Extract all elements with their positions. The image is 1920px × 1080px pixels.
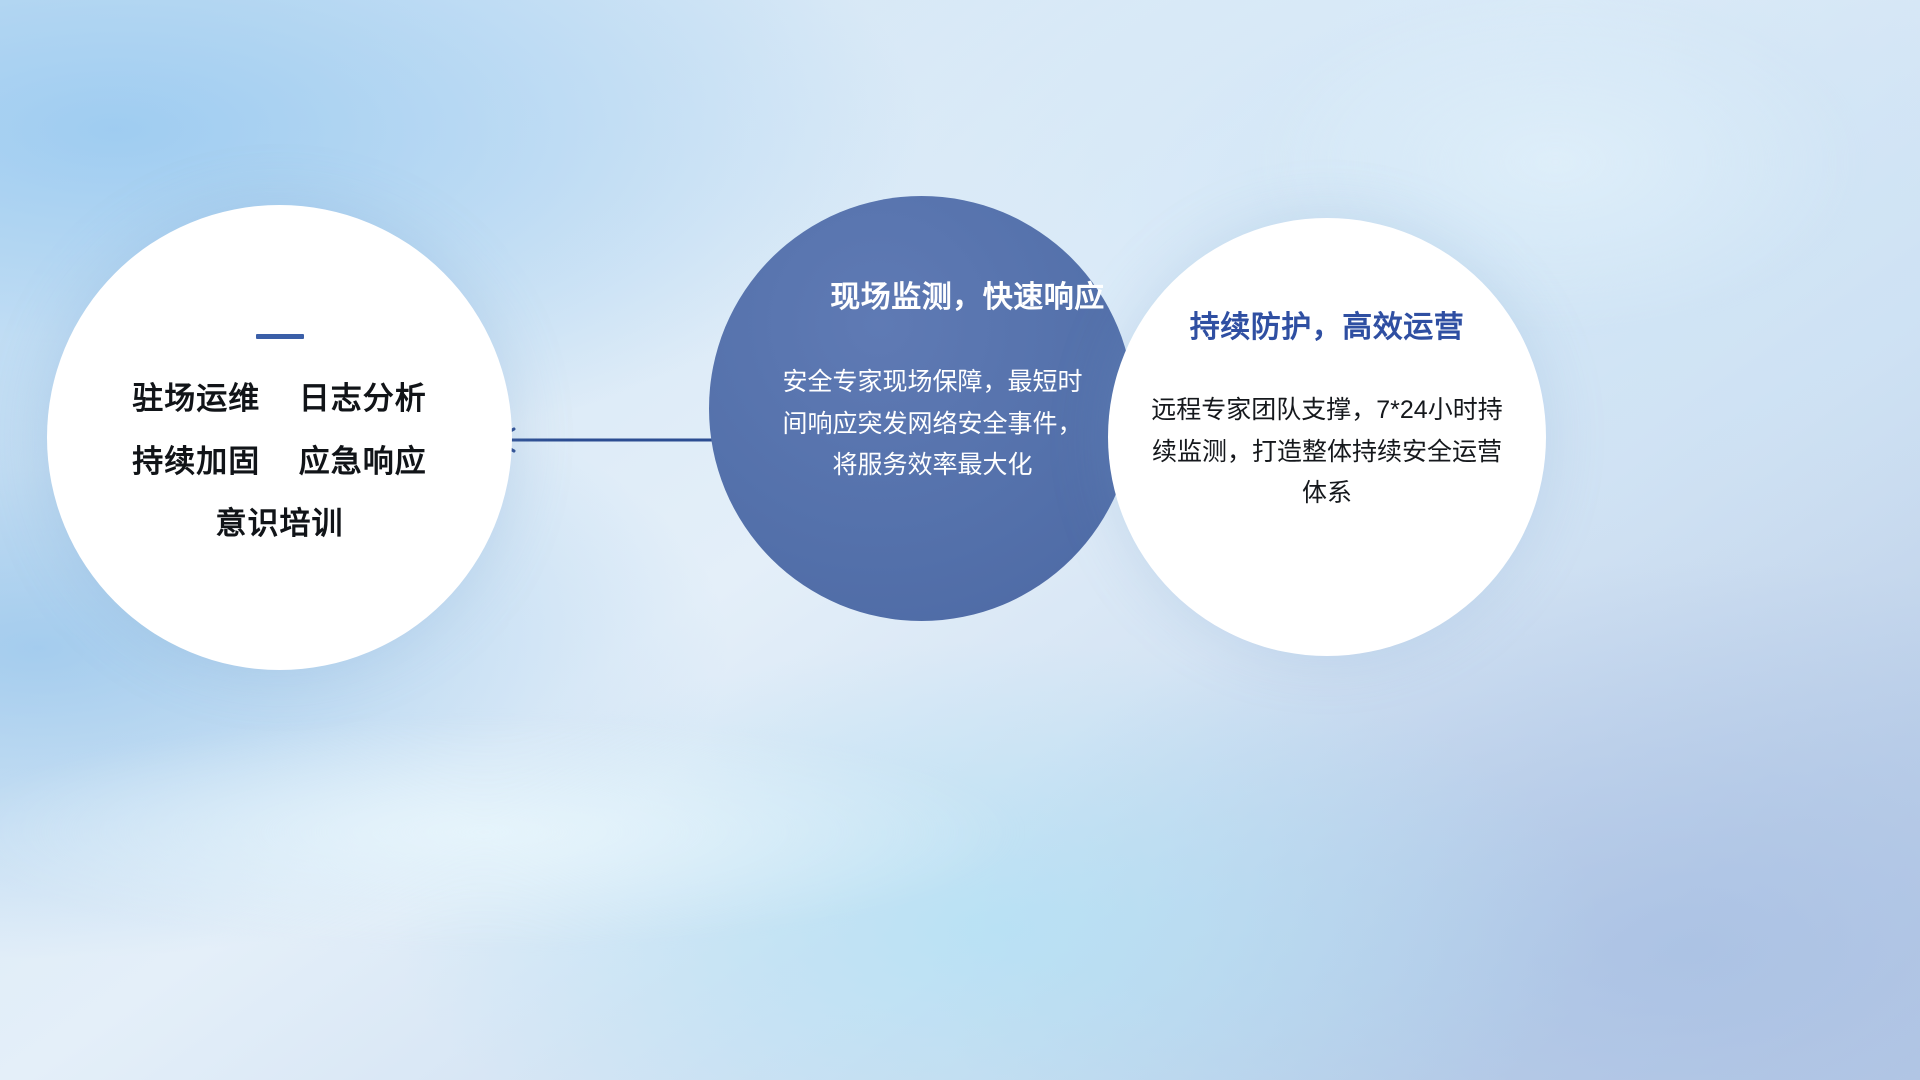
left-capability-circle[interactable]: 驻场运维 日志分析 持续加固 应急响应 意识培训 — [47, 205, 512, 670]
middle-circle-content: 现场监测，快速响应 安全专家现场保障，最短时间响应突发网络安全事件，将服务效率最… — [709, 196, 1134, 621]
right-circle-title: 持续防护，高效运营 — [1190, 302, 1465, 346]
slide-canvas: 驻场运维 日志分析 持续加固 应急响应 意识培训 现场监测，快速响应 安全专家现… — [0, 0, 1920, 1080]
connector-arrow — [480, 410, 740, 470]
right-circle-body: 远程专家团队支撑，7*24小时持续监测，打造整体持续安全运营体系 — [1142, 390, 1512, 515]
left-circle-content: 驻场运维 日志分析 持续加固 应急响应 意识培训 — [47, 205, 512, 670]
right-circle-content: 持续防护，高效运营 远程专家团队支撑，7*24小时持续监测，打造整体持续安全运营… — [1108, 218, 1546, 656]
middle-circle-title: 现场监测，快速响应 — [830, 272, 1105, 316]
left-circle-line-3: 意识培训 — [216, 508, 344, 541]
middle-onsite-circle[interactable]: 现场监测，快速响应 安全专家现场保障，最短时间响应突发网络安全事件，将服务效率最… — [709, 196, 1134, 621]
horizontal-dash-icon — [256, 334, 304, 339]
right-operations-circle[interactable]: 持续防护，高效运营 远程专家团队支撑，7*24小时持续监测，打造整体持续安全运营… — [1108, 218, 1546, 656]
middle-circle-body: 安全专家现场保障，最短时间响应突发网络安全事件，将服务效率最大化 — [783, 362, 1083, 487]
left-circle-line-1: 驻场运维 日志分析 — [132, 383, 426, 416]
left-circle-line-2: 持续加固 应急响应 — [132, 446, 426, 479]
